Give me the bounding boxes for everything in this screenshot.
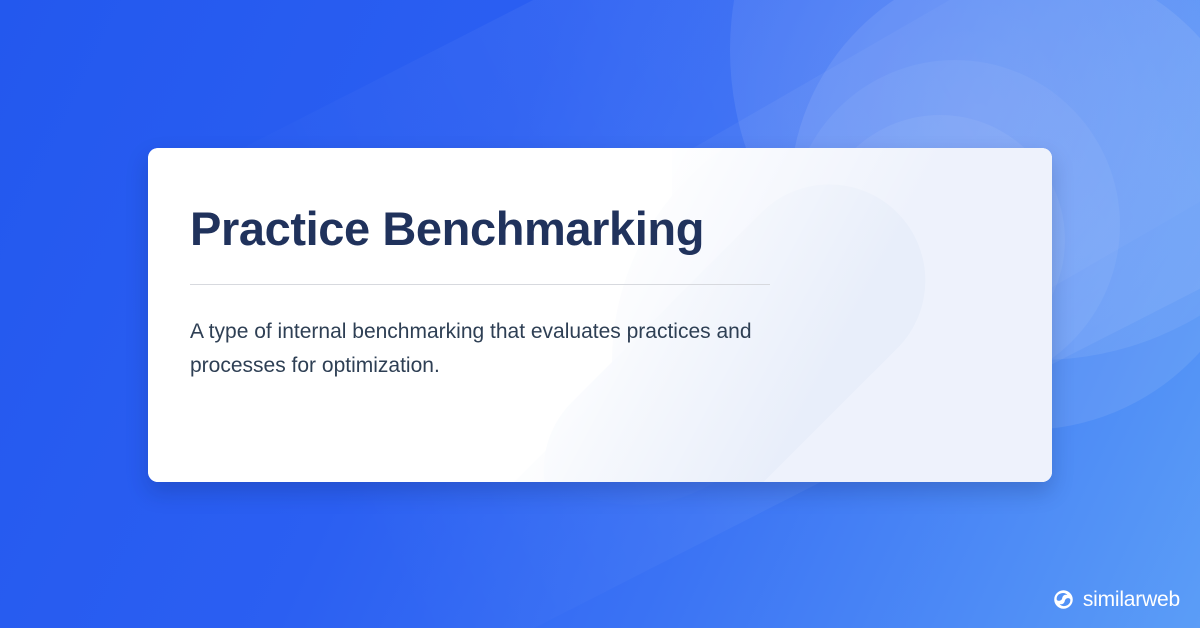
similarweb-logo-text: similarweb <box>1083 589 1180 610</box>
page-title: Practice Benchmarking <box>190 204 1008 254</box>
banner-stage: Practice Benchmarking A type of internal… <box>0 0 1200 628</box>
title-divider <box>190 284 770 285</box>
similarweb-logo[interactable]: similarweb <box>1053 589 1180 610</box>
definition-card: Practice Benchmarking A type of internal… <box>148 148 1052 482</box>
similarweb-swirl-icon <box>1053 589 1074 610</box>
definition-description: A type of internal benchmarking that eva… <box>190 315 830 383</box>
card-content: Practice Benchmarking A type of internal… <box>148 148 1052 383</box>
